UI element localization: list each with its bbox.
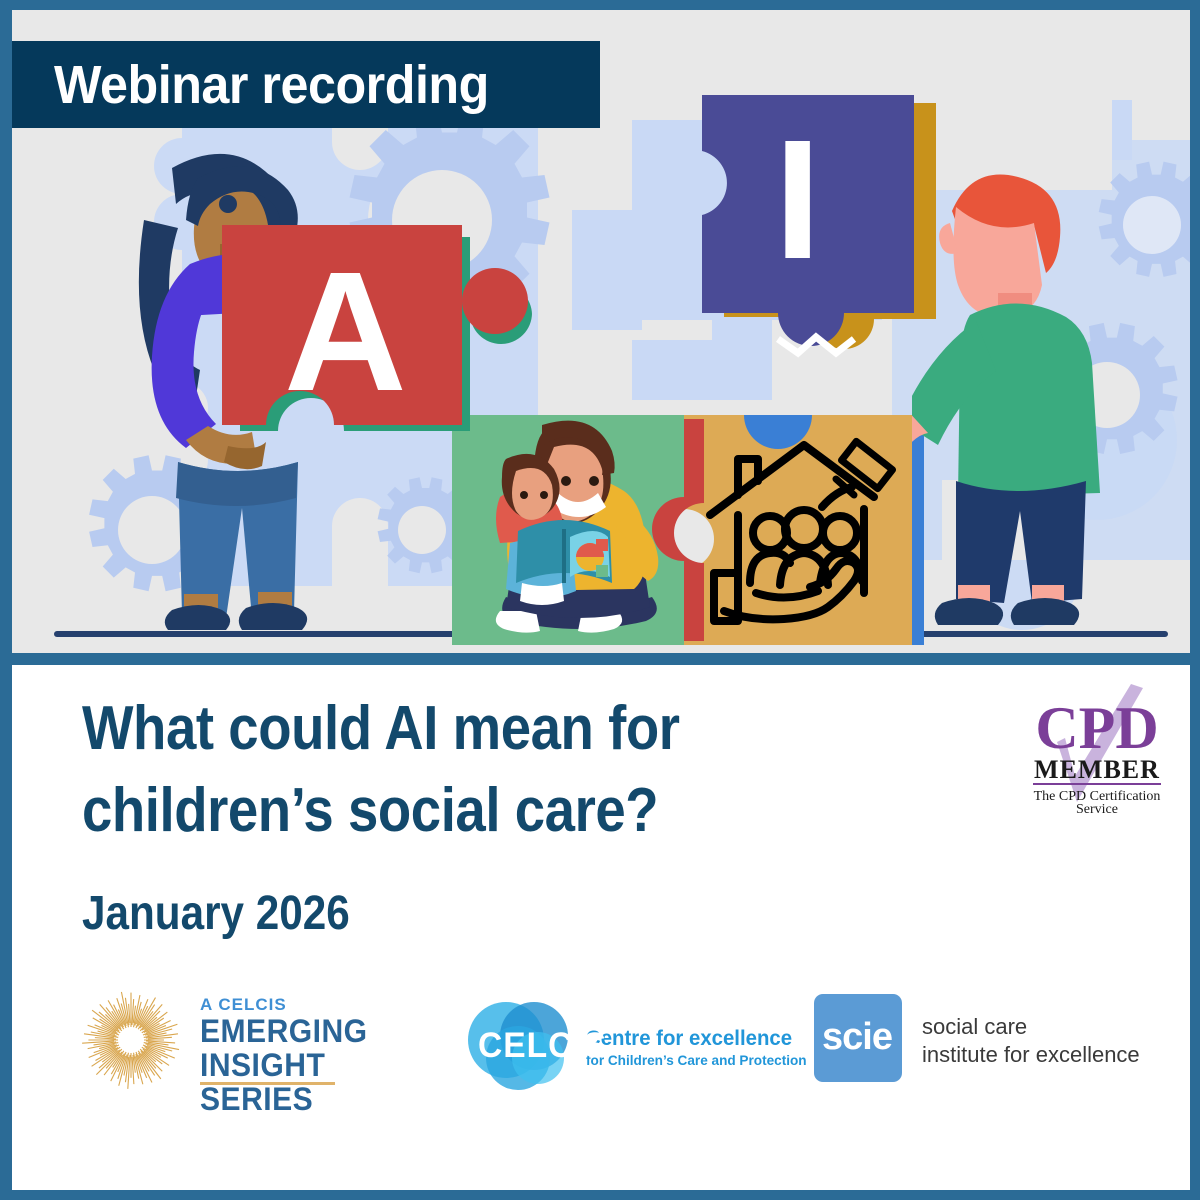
page-title: What could AI mean for children’s social… — [82, 688, 856, 852]
banner-label: Webinar recording — [54, 58, 489, 112]
house-family-gavel-icon — [704, 433, 904, 633]
celcis-logo: CELCIS Centre for excellence for Childre… — [464, 1000, 764, 1092]
emerging-insight-series-logo: A CELCIS EMERGING INSIGHT SERIES — [72, 990, 337, 1095]
lower-section: What could AI mean for children’s social… — [12, 665, 1190, 1190]
puzzle-piece-i: I — [702, 95, 942, 380]
celcis-wordmark: CELCIS — [478, 1026, 607, 1066]
celcis-tagline2: for Children’s Care and Protection — [586, 1052, 807, 1068]
cpd-member-logo: CPD MEMBER The CPD Certification Service — [1015, 680, 1180, 815]
puzzle-letter-i: I — [774, 115, 821, 285]
partner-logo-row: A CELCIS EMERGING INSIGHT SERIES CELCIS … — [12, 990, 1190, 1110]
poster: A I — [0, 0, 1200, 1200]
celcis-tagline1: Centre for excellence — [586, 1027, 792, 1051]
man-placing-i-piece — [912, 145, 1132, 650]
webinar-recording-banner: Webinar recording — [12, 41, 600, 128]
cpd-line2: Service — [1076, 802, 1118, 815]
eis-underline — [200, 1082, 335, 1085]
scie-tagline2: institute for excellence — [922, 1041, 1140, 1069]
cpd-member-word: MEMBER — [1034, 755, 1160, 784]
date-label: January 2026 — [82, 890, 350, 938]
cpd-letters: CPD — [1035, 695, 1158, 761]
puzzle-letter-a: A — [284, 247, 407, 417]
adult-reading-to-child-icon — [470, 425, 685, 640]
hero-illustration: A I — [12, 10, 1190, 653]
eis-line1: EMERGING — [200, 1015, 368, 1049]
puzzle-piece-a: A — [222, 225, 542, 455]
puzzle-piece-house — [684, 415, 929, 645]
scie-tagline1: social care — [922, 1013, 1027, 1041]
scie-logo: scie social care institute for excellenc… — [814, 994, 1144, 1094]
scie-wordmark: scie — [822, 1018, 894, 1056]
starburst-icon — [72, 990, 190, 1090]
